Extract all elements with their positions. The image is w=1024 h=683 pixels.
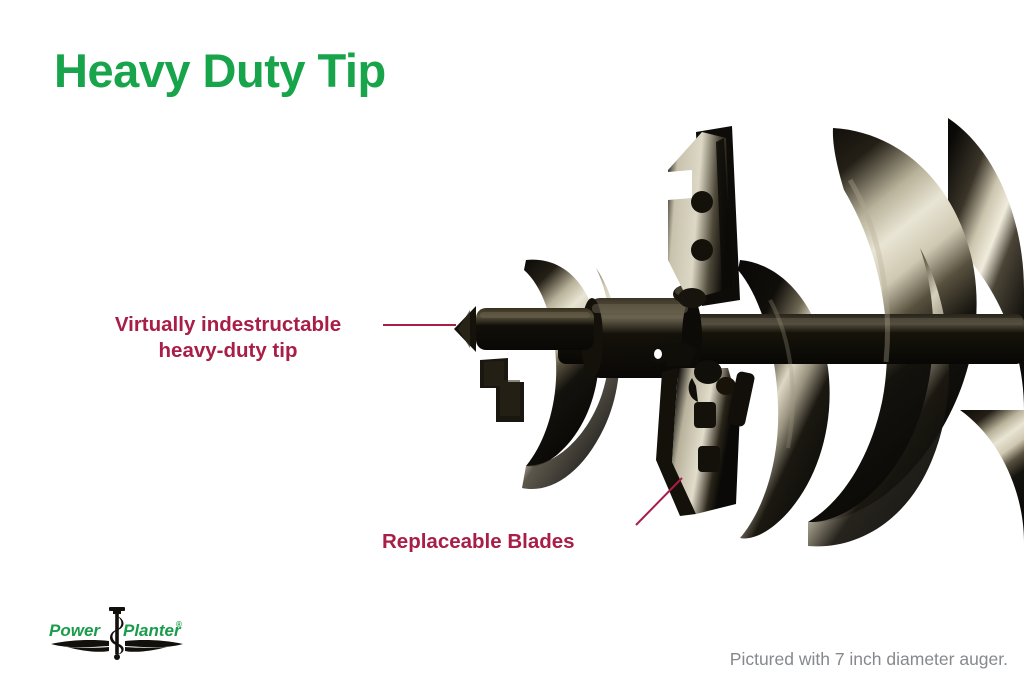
leader-line-replaceable-blades bbox=[630, 470, 690, 530]
logo-word-planter: Planter bbox=[123, 621, 182, 640]
footer-caption: Pictured with 7 inch diameter auger. bbox=[730, 649, 1008, 670]
callout-heavy-duty-tip-label: Virtually indestructable heavy-duty tip bbox=[78, 312, 378, 364]
logo-registered-mark: ® bbox=[176, 620, 182, 629]
page-title: Heavy Duty Tip bbox=[54, 46, 386, 95]
product-image-auger bbox=[440, 110, 1024, 550]
callout-tip-line-2: heavy-duty tip bbox=[78, 338, 378, 364]
callout-replaceable-blades-label: Replaceable Blades bbox=[382, 529, 575, 555]
leader-line-heavy-duty-tip bbox=[383, 324, 456, 326]
logo-word-power: Power bbox=[49, 621, 101, 640]
callout-tip-line-1: Virtually indestructable bbox=[78, 312, 378, 338]
slide-canvas: Heavy Duty Tip bbox=[0, 0, 1024, 683]
brand-logo-power-planter: Power Planter ® bbox=[47, 606, 187, 660]
